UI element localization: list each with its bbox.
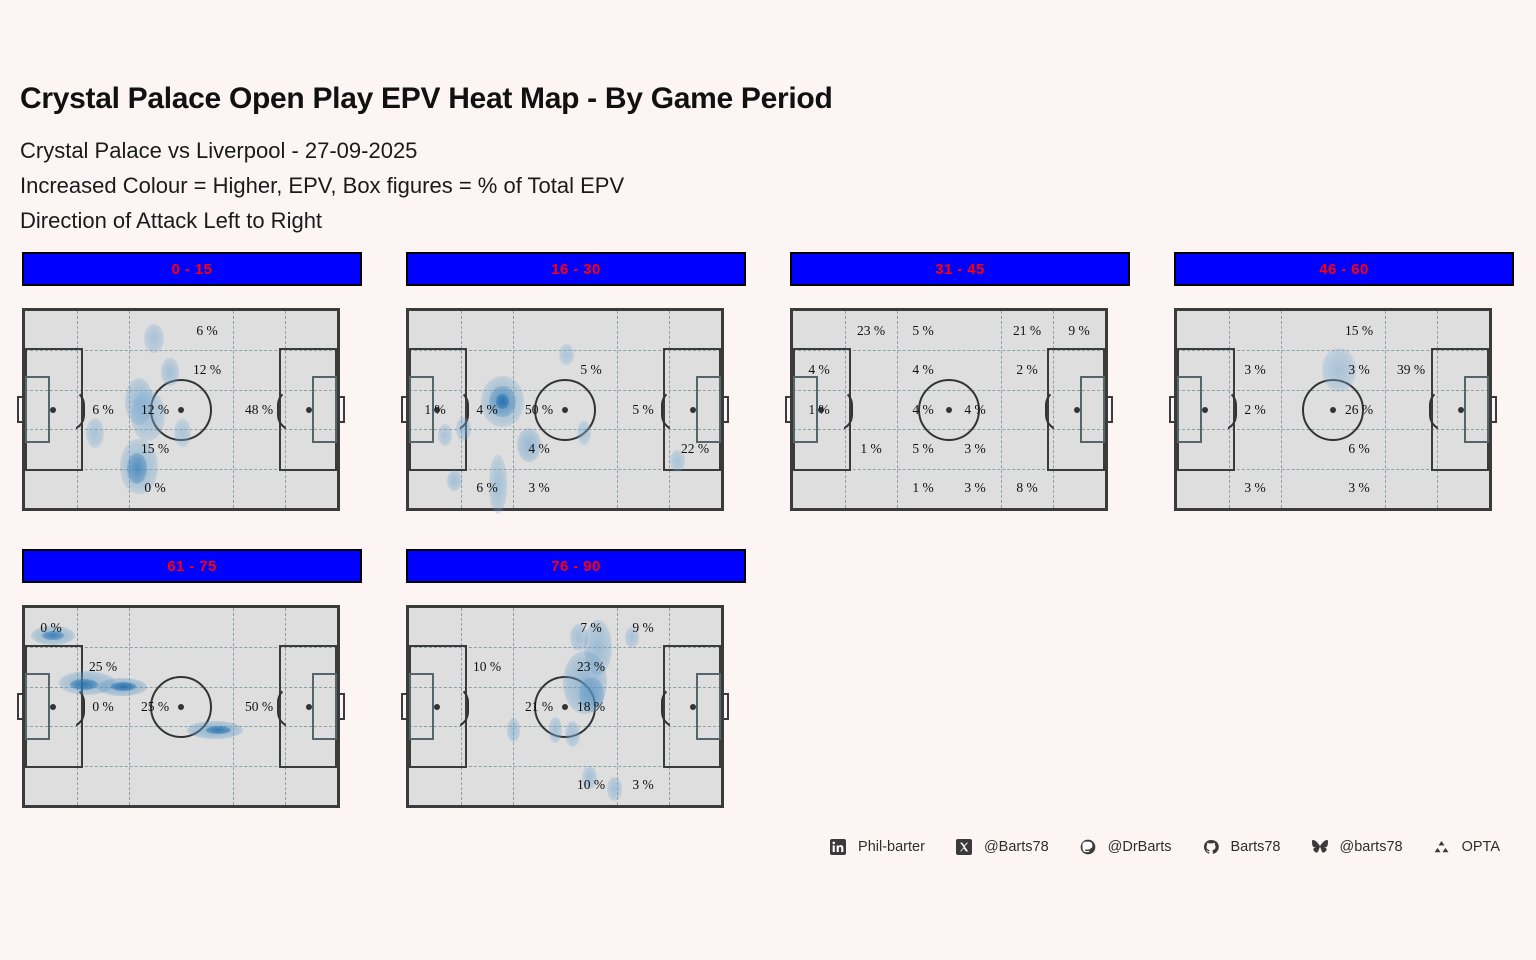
goal-right [721,396,729,424]
goal-left [785,396,793,424]
grid-line-vertical [233,311,234,508]
period-banner: 0 - 15 [22,252,362,286]
pitch-markings: 5 %1 %4 %50 %5 %4 %22 %6 %3 % [409,311,721,508]
pitch-cell-value: 12 % [141,402,169,418]
pitch-markings: 6 %12 %6 %12 %48 %15 %0 % [25,311,337,508]
penalty-arc-right [277,686,293,728]
penalty-spot-left [434,704,440,710]
grid-line-vertical [1281,311,1282,508]
pitch-cell-value: 48 % [245,402,273,418]
centre-spot [1330,407,1336,413]
pitch-row-2: 61 - 750 %25 %0 %25 %50 % 76 - 907 %9 %1… [0,549,1536,808]
pitch-cell-value: 4 % [476,402,497,418]
pitch-panel-grid: 0 - 156 %12 %6 %12 %48 %15 %0 % 16 - 305… [0,252,1536,808]
pitch-markings: 0 %25 %0 %25 %50 % [25,608,337,805]
period-label: 61 - 75 [167,558,217,575]
pitch-cell-value: 6 % [92,402,113,418]
pitch-cell-value: 5 % [912,323,933,339]
goal-right [337,396,345,424]
goal-area-left [409,673,434,740]
grid-line-vertical [897,311,898,508]
pitch-cell-value: 3 % [1348,480,1369,496]
heat-blob [447,470,462,492]
heat-blob [607,777,622,801]
pitch-diagram: 5 %1 %4 %50 %5 %4 %22 %6 %3 % [406,308,724,511]
pitch-cell-value: 1 % [424,402,445,418]
pitch-cell-value: 23 % [857,323,885,339]
period-banner: 31 - 45 [790,252,1130,286]
footer-item-label: @DrBarts [1108,839,1172,855]
pitch-markings: 7 %9 %10 %23 %21 %18 %10 %3 % [409,608,721,805]
pitch-cell-value: 1 % [860,441,881,457]
goal-area-left [25,376,50,443]
pitch-cell-value: 9 % [1068,323,1089,339]
penalty-spot-right [306,407,312,413]
pitch-cell-value: 23 % [577,659,605,675]
pitch-cell-value: 15 % [1345,323,1373,339]
period-label: 46 - 60 [1319,261,1369,278]
heat-blob [496,394,508,410]
pitch-cell-value: 8 % [1016,480,1037,496]
goal-area-left [25,673,50,740]
pitch-cell-value: 26 % [1345,402,1373,418]
pitch-cell-value: 9 % [632,620,653,636]
penalty-arc-right [1045,389,1061,431]
pitch-cell-value: 6 % [476,480,497,496]
linkedin-icon [829,838,847,856]
pitch-diagram: 6 %12 %6 %12 %48 %15 %0 % [22,308,340,511]
grid-line-vertical [1385,311,1386,508]
penalty-spot-right [690,704,696,710]
period-banner: 76 - 90 [406,549,746,583]
pitch-panel: 76 - 907 %9 %10 %23 %21 %18 %10 %3 % [384,549,768,808]
footer-item-label: Phil-barter [858,839,925,855]
centre-spot [946,407,952,413]
centre-spot [562,407,568,413]
penalty-spot-right [690,407,696,413]
period-label: 0 - 15 [172,261,213,278]
period-label: 16 - 30 [551,261,601,278]
pitch-panel: 31 - 4523 %5 %21 %9 %4 %4 %2 %1 %4 %4 %1… [768,252,1152,511]
pitch-cell-value: 3 % [1244,362,1265,378]
period-banner: 46 - 60 [1174,252,1514,286]
centre-spot [178,704,184,710]
goal-left [1169,396,1177,424]
footer-item-label: @barts78 [1340,839,1403,855]
pitch-cell-value: 0 % [40,620,61,636]
pitch-cell-value: 2 % [1244,402,1265,418]
pitch-diagram: 15 %3 %3 %39 %2 %26 %6 %3 %3 % [1174,308,1492,511]
penalty-spot-left [50,704,56,710]
footer-item[interactable]: Phil-barter [829,838,925,856]
penalty-spot-left [1202,407,1208,413]
subtitle-direction: Direction of Attack Left to Right [20,208,322,234]
centre-spot [562,704,568,710]
footer-item[interactable]: @Barts78 [955,838,1049,856]
goal-right [1105,396,1113,424]
goal-area-right [312,673,337,740]
goal-area-right [1464,376,1489,443]
page-title: Crystal Palace Open Play EPV Heat Map - … [20,82,832,116]
footer-item-label: Barts78 [1231,839,1281,855]
penalty-spot-right [1458,407,1464,413]
pitch-cell-value: 3 % [964,441,985,457]
heat-blob [206,726,231,734]
x-twitter-icon [955,838,973,856]
pitch-markings: 15 %3 %3 %39 %2 %26 %6 %3 %3 % [1177,311,1489,508]
goal-left [401,396,409,424]
goal-area-right [1080,376,1105,443]
pitch-cell-value: 25 % [89,659,117,675]
footer-item[interactable]: OPTA [1433,838,1500,856]
pitch-cell-value: 10 % [577,777,605,793]
penalty-spot-right [306,704,312,710]
pitch-markings: 23 %5 %21 %9 %4 %4 %2 %1 %4 %4 %1 %5 %3 … [793,311,1105,508]
grid-line-vertical [129,311,130,508]
subtitle-match: Crystal Palace vs Liverpool - 27-09-2025 [20,138,417,164]
goal-area-right [312,376,337,443]
pitch-panel: 16 - 305 %1 %4 %50 %5 %4 %22 %6 %3 % [384,252,768,511]
footer-social-bar: Phil-barter@Barts78@DrBartsBarts78@barts… [0,838,1536,856]
pitch-cell-value: 2 % [1016,362,1037,378]
pitch-cell-value: 5 % [580,362,601,378]
period-banner: 16 - 30 [406,252,746,286]
pitch-panel: 0 - 156 %12 %6 %12 %48 %15 %0 % [0,252,384,511]
pitch-diagram: 0 %25 %0 %25 %50 % [22,605,340,808]
pitch-cell-value: 1 % [808,402,829,418]
grid-line-vertical [617,311,618,508]
grid-line-vertical [233,608,234,805]
period-label: 31 - 45 [935,261,985,278]
pitch-cell-value: 6 % [196,323,217,339]
goal-area-left [1177,376,1202,443]
pitch-panel: 46 - 6015 %3 %3 %39 %2 %26 %6 %3 %3 % [1152,252,1536,511]
pitch-cell-value: 39 % [1397,362,1425,378]
penalty-arc-right [661,686,677,728]
footer-item[interactable]: Barts78 [1202,838,1281,856]
pitch-cell-value: 3 % [964,480,985,496]
pitch-cell-value: 3 % [632,777,653,793]
pitch-cell-value: 22 % [681,441,709,457]
pitch-cell-value: 4 % [964,402,985,418]
goal-left [401,693,409,721]
pitch-cell-value: 12 % [193,362,221,378]
goal-left [17,396,25,424]
grid-line-vertical [617,608,618,805]
pitch-cell-value: 4 % [808,362,829,378]
pitch-cell-value: 21 % [525,699,553,715]
pitch-cell-value: 3 % [1348,362,1369,378]
goal-right [721,693,729,721]
grid-line-vertical [129,608,130,805]
pitch-cell-value: 18 % [577,699,605,715]
pitch-panel: 61 - 750 %25 %0 %25 %50 % [0,549,384,808]
opta-icon [1433,838,1451,856]
pitch-cell-value: 6 % [1348,441,1369,457]
subtitle-legend: Increased Colour = Higher, EPV, Box figu… [20,173,624,199]
pitch-cell-value: 0 % [92,699,113,715]
pitch-cell-value: 25 % [141,699,169,715]
period-banner: 61 - 75 [22,549,362,583]
grid-line-vertical [513,311,514,508]
goal-area-right [696,673,721,740]
pitch-cell-value: 3 % [1244,480,1265,496]
pitch-row-1: 0 - 156 %12 %6 %12 %48 %15 %0 % 16 - 305… [0,252,1536,511]
grid-line-vertical [1001,311,1002,508]
pitch-panel-empty [1152,549,1536,808]
pitch-cell-value: 3 % [528,480,549,496]
pitch-cell-value: 15 % [141,441,169,457]
heat-blob [86,418,103,448]
grid-line-vertical [513,608,514,805]
pitch-panel-empty [768,549,1152,808]
pitch-cell-value: 1 % [912,480,933,496]
pitch-cell-value: 7 % [580,620,601,636]
penalty-arc-right [661,389,677,431]
period-label: 76 - 90 [551,558,601,575]
goal-right [337,693,345,721]
github-icon [1202,838,1220,856]
pitch-cell-value: 4 % [912,362,933,378]
pitch-diagram: 23 %5 %21 %9 %4 %4 %2 %1 %4 %4 %1 %5 %3 … [790,308,1108,511]
pitch-cell-value: 21 % [1013,323,1041,339]
pitch-cell-value: 0 % [144,480,165,496]
goal-left [17,693,25,721]
bluesky-icon [1311,838,1329,856]
pitch-cell-value: 4 % [912,402,933,418]
pitch-cell-value: 5 % [912,441,933,457]
pitch-cell-value: 50 % [245,699,273,715]
pitch-diagram: 7 %9 %10 %23 %21 %18 %10 %3 % [406,605,724,808]
goal-right [1489,396,1497,424]
penalty-spot-left [50,407,56,413]
heat-blob [559,344,574,366]
penalty-spot-right [1074,407,1080,413]
centre-spot [178,407,184,413]
penalty-arc-right [277,389,293,431]
pitch-cell-value: 10 % [473,659,501,675]
mastodon-icon [1079,838,1097,856]
footer-item-label: @Barts78 [984,839,1049,855]
penalty-arc-right [1429,389,1445,431]
footer-item[interactable]: @DrBarts [1079,838,1172,856]
pitch-cell-value: 5 % [632,402,653,418]
goal-area-right [696,376,721,443]
pitch-cell-value: 50 % [525,402,553,418]
footer-item[interactable]: @barts78 [1311,838,1403,856]
footer-item-label: OPTA [1462,839,1500,855]
pitch-cell-value: 4 % [528,441,549,457]
heat-blob [144,324,164,354]
